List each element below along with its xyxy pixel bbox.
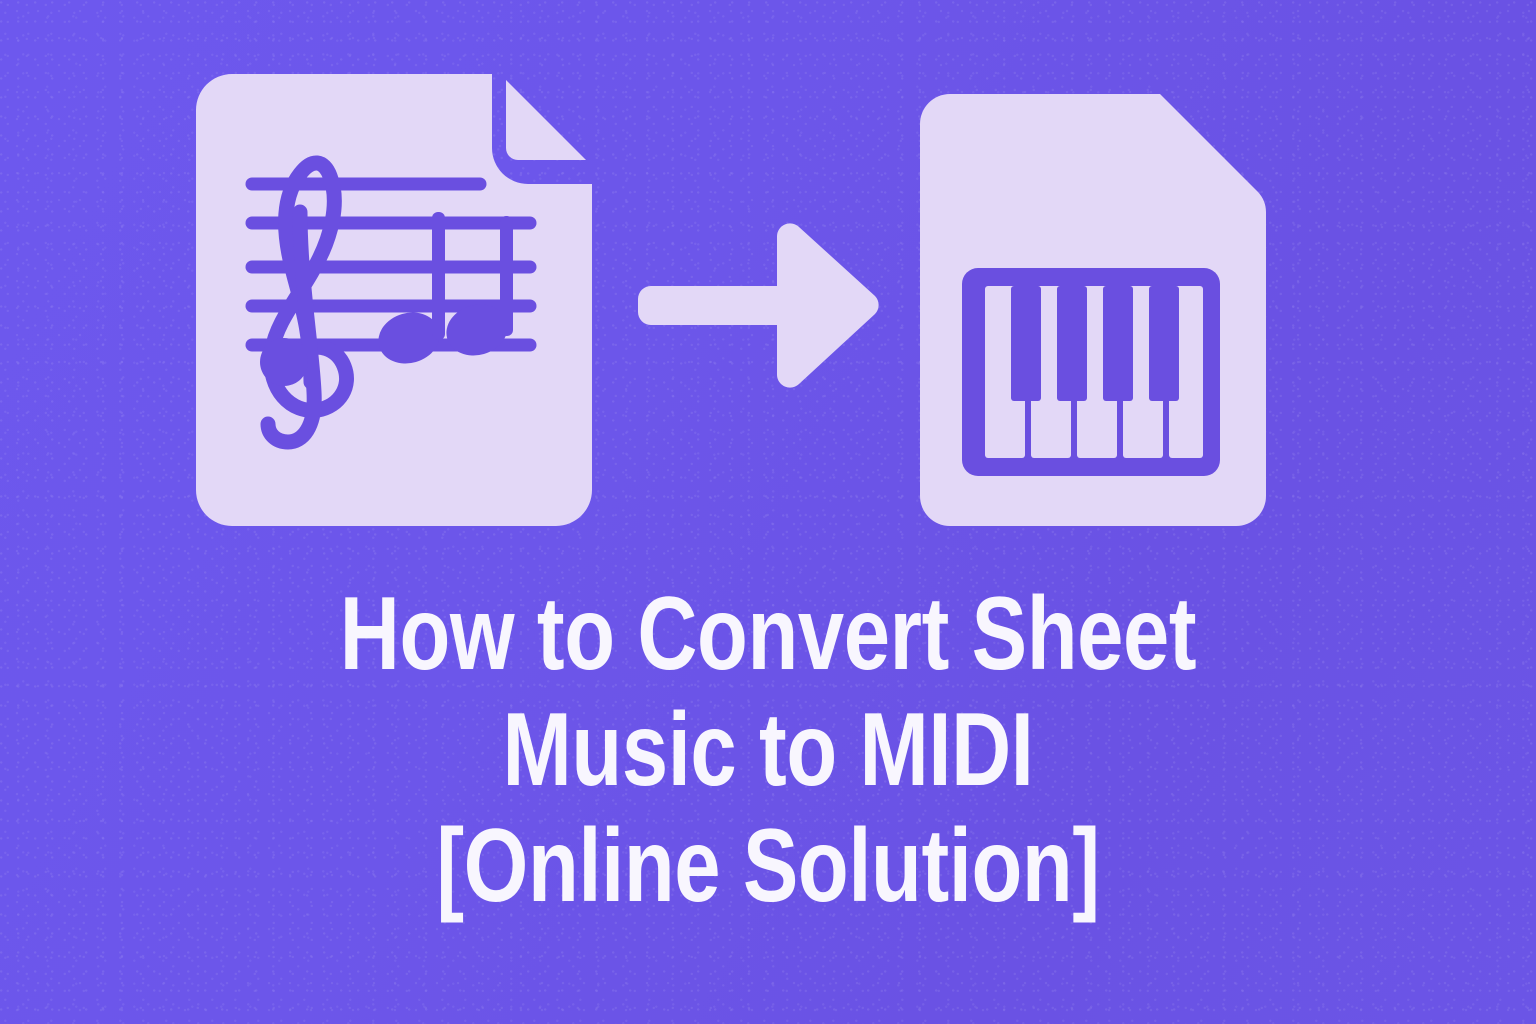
document-fold-corner [506,80,586,160]
note-stem-2 [500,216,513,336]
arrow-shape [638,223,879,387]
midi-card-icon [920,94,1266,526]
black-key-3 [1103,286,1133,401]
page-title-line-1: How to Convert Sheet [154,576,1383,692]
treble-clef-tail-dot [260,338,308,386]
black-key-1 [1011,286,1041,401]
right-arrow-icon [638,223,879,387]
black-key-4 [1149,286,1179,401]
page-title-line-2: Music to MIDI [154,692,1383,808]
sheet-music-document-icon [196,74,592,526]
black-key-2 [1057,286,1087,401]
thumbnail-canvas: How to Convert Sheet Music to MIDI [Onli… [0,0,1536,1024]
page-title-line-3: [Online Solution] [154,808,1383,924]
page-title: How to Convert Sheet Music to MIDI [Onli… [154,576,1383,924]
note-stem-1 [432,212,445,340]
